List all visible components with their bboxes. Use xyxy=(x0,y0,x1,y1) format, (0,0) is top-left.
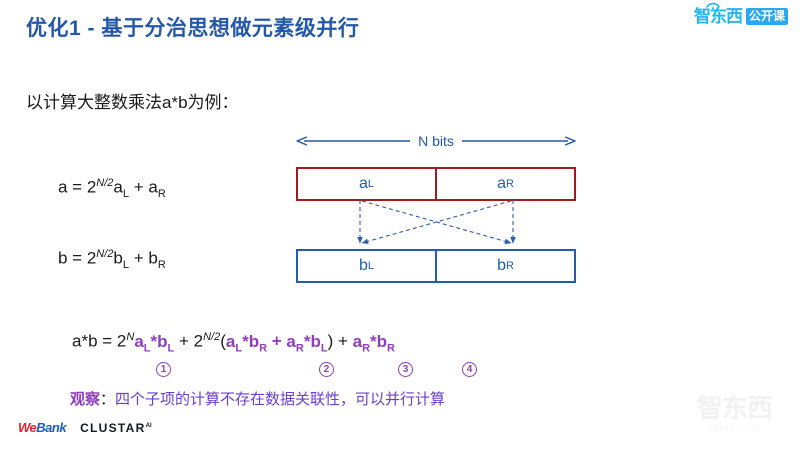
formula-a-plus: + xyxy=(129,178,148,197)
callout-1: 1 xyxy=(156,362,171,377)
observation-label: 观察 xyxy=(70,391,100,408)
eq-term2-a: a xyxy=(226,332,235,351)
cell-b-right-sub: R xyxy=(506,260,514,272)
page-title: 优化1 - 基于分治思想做元素级并行 xyxy=(26,12,359,42)
cell-a-right-label: a xyxy=(497,175,506,193)
eq-plus3: + xyxy=(333,332,352,351)
formula-b-t2: b xyxy=(148,249,157,268)
cell-b-left-label: b xyxy=(359,257,368,275)
eq-term4-a: a xyxy=(353,332,362,351)
eq-lhs: a*b = 2 xyxy=(72,332,126,351)
observation-text: 四个子项的计算不存在数据关联性，可以并行计算 xyxy=(115,391,445,408)
n-bits-label: N bits xyxy=(410,133,462,149)
observation-separator: ： xyxy=(100,391,115,408)
operand-b-box: bL bR xyxy=(296,249,576,283)
brand-logo: 智东西 公开课 xyxy=(694,8,788,25)
formula-a-t2-sub: R xyxy=(158,188,166,200)
eq-term1-a: a xyxy=(134,332,143,351)
eq-exp2: N/2 xyxy=(203,331,220,343)
callout-2: 2 xyxy=(319,362,334,377)
arrow-right xyxy=(462,135,576,147)
watermark: 智东西 zhidx.com xyxy=(697,395,772,432)
formula-b-plus: + xyxy=(129,249,148,268)
webank-logo: WeBank xyxy=(18,420,66,435)
product-equation: a*b = 2NaL*bL + 2N/2(aL*bR + aR*bL) + aR… xyxy=(72,331,395,354)
clustar-name: CLUSTAR xyxy=(80,421,146,435)
eq-term3: aR*bL xyxy=(286,332,327,351)
eq-term1-star: *b xyxy=(151,332,168,351)
operand-a-box: aL aR xyxy=(296,167,576,201)
brand-name: 智东西 xyxy=(694,8,742,25)
cell-a-right-sub: R xyxy=(506,178,514,190)
eq-term4-star: *b xyxy=(370,332,387,351)
formula-b-lhs: b = 2 xyxy=(58,249,96,268)
formula-b-t1: b xyxy=(113,249,122,268)
cell-b-left-sub: L xyxy=(368,260,374,272)
cell-a-right: aR xyxy=(437,169,574,199)
eq-term3-a-sub: R xyxy=(296,342,304,354)
n-bits-measure: N bits xyxy=(296,130,576,152)
brand-badge: 公开课 xyxy=(746,8,788,25)
formula-a: a = 2N/2aL + aR xyxy=(58,177,166,200)
cell-a-left-sub: L xyxy=(368,178,374,190)
cell-b-right-label: b xyxy=(497,257,506,275)
formula-b-exp: N/2 xyxy=(96,248,113,260)
cross-connectors xyxy=(296,199,576,251)
cell-a-left-label: a xyxy=(359,175,368,193)
eq-term2-b-sub: R xyxy=(259,342,267,354)
webank-bank: Bank xyxy=(36,420,66,435)
webank-we: We xyxy=(18,420,36,435)
eq-term3-a: a xyxy=(286,332,295,351)
brand-name-text: 智东西 xyxy=(694,7,742,26)
wifi-icon xyxy=(706,1,720,9)
eq-term4-b-sub: R xyxy=(387,342,395,354)
callout-4: 4 xyxy=(462,362,477,377)
watermark-mark: 智东西 xyxy=(697,395,772,421)
arrow-left xyxy=(296,135,410,147)
eq-plus2: + xyxy=(267,332,286,351)
formula-a-t2: a xyxy=(148,178,157,197)
eq-term4-a-sub: R xyxy=(362,342,370,354)
footer-logos: WeBank CLUSTARAI xyxy=(18,420,152,435)
formula-b-t2-sub: R xyxy=(158,259,166,271)
intro-text: 以计算大整数乘法a*b为例： xyxy=(26,88,239,113)
split-diagram: N bits aL aR bL xyxy=(296,130,576,290)
clustar-logo: CLUSTARAI xyxy=(80,421,152,435)
watermark-url: zhidx.com xyxy=(697,423,772,432)
eq-term2-star: *b xyxy=(242,332,259,351)
eq-term1: aL*bL xyxy=(134,332,174,351)
cell-a-left: aL xyxy=(298,169,437,199)
formula-a-t1: a xyxy=(113,178,122,197)
formula-a-lhs: a = 2 xyxy=(58,178,96,197)
eq-term4: aR*bR xyxy=(353,332,395,351)
cell-b-right: bR xyxy=(437,251,574,281)
eq-term1-a-sub: L xyxy=(144,342,151,354)
eq-term3-b-sub: L xyxy=(321,342,328,354)
observation-note: 观察：四个子项的计算不存在数据关联性，可以并行计算 xyxy=(70,388,445,409)
clustar-ai: AI xyxy=(146,423,152,429)
formula-a-exp: N/2 xyxy=(96,177,113,189)
cell-b-left: bL xyxy=(298,251,437,281)
callout-3: 3 xyxy=(398,362,413,377)
formula-b: b = 2N/2bL + bR xyxy=(58,248,166,271)
eq-term3-star: *b xyxy=(304,332,321,351)
eq-term2: aL*bR xyxy=(226,332,267,351)
eq-plus1: + 2 xyxy=(174,332,203,351)
